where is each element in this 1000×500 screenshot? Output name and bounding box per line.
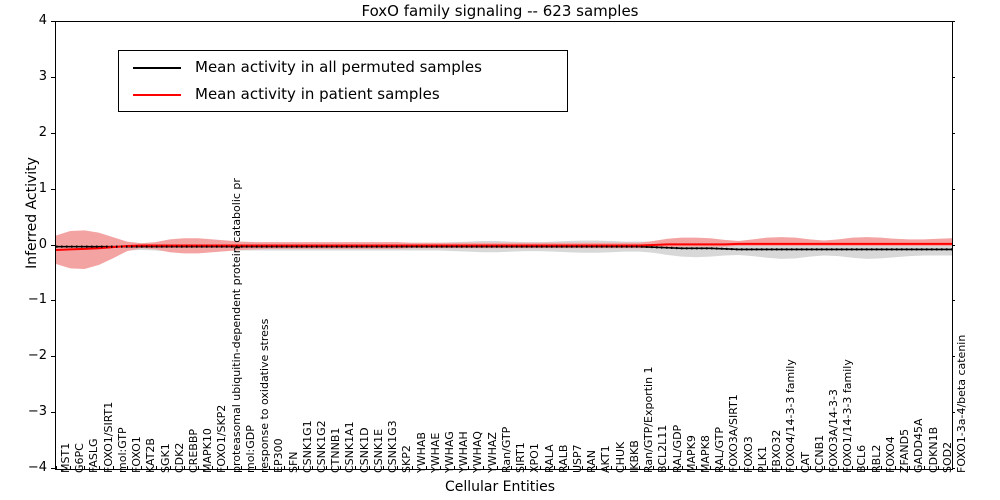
x-tick-mark — [881, 466, 882, 470]
x-tick-mark — [170, 466, 171, 470]
x-tick-mark — [326, 466, 327, 470]
plot-area: Mean activity in all permuted samplesMea… — [55, 21, 953, 470]
x-tick-mark — [867, 466, 868, 470]
x-tick-mark — [568, 466, 569, 470]
x-tick-mark — [440, 466, 441, 470]
x-tick-mark — [497, 466, 498, 470]
legend-item: Mean activity in patient samples — [119, 82, 567, 108]
x-tick-mark — [298, 466, 299, 470]
x-tick-mark — [355, 466, 356, 470]
x-tick-label: FOXO1-3a-4/beta catenin — [956, 335, 967, 473]
x-tick-mark — [540, 466, 541, 470]
y-tick-label: −1 — [9, 292, 47, 307]
chart-title: FoxO family signaling -- 623 samples — [0, 2, 1000, 20]
x-tick-label: FOXO1/SIRT1 — [103, 402, 114, 473]
chart-root: FoxO family signaling -- 623 samples Inf… — [0, 0, 1000, 500]
y-tick-label: 1 — [9, 181, 47, 196]
x-tick-mark — [198, 466, 199, 470]
legend-label: Mean activity in patient samples — [195, 85, 440, 103]
x-tick-label: FOXO3A/SIRT1 — [728, 394, 739, 473]
x-tick-label: GADD45A — [913, 418, 924, 473]
x-tick-mark — [70, 466, 71, 470]
y-tick-label: −4 — [9, 460, 47, 475]
x-tick-mark — [511, 466, 512, 470]
x-tick-mark — [611, 466, 612, 470]
x-tick-mark — [284, 466, 285, 470]
x-tick-mark — [255, 466, 256, 470]
x-tick-label: proteasomal ubiquitin-dependent protein … — [231, 178, 242, 473]
x-tick-mark — [952, 466, 953, 470]
x-tick-mark — [852, 466, 853, 470]
x-tick-mark — [383, 466, 384, 470]
legend: Mean activity in all permuted samplesMea… — [118, 50, 568, 112]
x-tick-mark — [596, 466, 597, 470]
x-tick-mark — [753, 466, 754, 470]
x-tick-mark — [682, 466, 683, 470]
x-tick-mark — [582, 466, 583, 470]
x-tick-mark — [397, 466, 398, 470]
x-tick-label: FOXO3A/14-3-3 — [828, 389, 839, 473]
x-tick-mark — [141, 466, 142, 470]
x-tick-mark — [909, 466, 910, 470]
x-tick-mark — [113, 466, 114, 470]
x-tick-label: FOXO1/14-3-3 family — [842, 359, 853, 473]
x-tick-mark — [554, 466, 555, 470]
x-tick-mark — [184, 466, 185, 470]
x-tick-mark — [454, 466, 455, 470]
legend-line-swatch — [133, 67, 181, 69]
x-tick-mark — [56, 466, 57, 470]
y-tick-label: 0 — [9, 237, 47, 252]
x-tick-mark — [895, 466, 896, 470]
x-tick-mark — [810, 466, 811, 470]
x-tick-mark — [724, 466, 725, 470]
x-tick-mark — [924, 466, 925, 470]
x-tick-mark — [668, 466, 669, 470]
x-tick-mark — [212, 466, 213, 470]
legend-item: Mean activity in all permuted samples — [119, 55, 567, 81]
x-tick-mark — [824, 466, 825, 470]
x-tick-mark — [369, 466, 370, 470]
x-tick-mark — [625, 466, 626, 470]
y-tick-label: −2 — [9, 348, 47, 363]
x-tick-mark — [639, 466, 640, 470]
x-tick-mark — [426, 466, 427, 470]
x-tick-mark — [938, 466, 939, 470]
x-tick-mark — [241, 466, 242, 470]
legend-label: Mean activity in all permuted samples — [195, 58, 482, 76]
x-tick-mark — [483, 466, 484, 470]
x-tick-mark — [739, 466, 740, 470]
x-tick-mark — [312, 466, 313, 470]
x-tick-mark — [340, 466, 341, 470]
y-tick-label: 2 — [9, 125, 47, 140]
x-tick-mark — [767, 466, 768, 470]
x-tick-mark — [796, 466, 797, 470]
x-tick-label: FOXO1/SKP2 — [216, 405, 227, 473]
x-tick-mark — [127, 466, 128, 470]
legend-line-swatch — [133, 94, 181, 96]
y-tick-label: −3 — [9, 404, 47, 419]
x-tick-mark — [99, 466, 100, 470]
x-tick-mark — [269, 466, 270, 470]
x-tick-mark — [525, 466, 526, 470]
x-tick-mark — [468, 466, 469, 470]
x-axis-label: Cellular Entities — [0, 479, 1000, 495]
x-tick-mark — [84, 466, 85, 470]
x-tick-mark — [710, 466, 711, 470]
x-tick-mark — [412, 466, 413, 470]
x-tick-mark — [227, 466, 228, 470]
y-tick-label: 3 — [9, 69, 47, 84]
x-tick-mark — [781, 466, 782, 470]
x-tick-label: response to oxidative stress — [259, 319, 270, 473]
x-tick-mark — [696, 466, 697, 470]
x-tick-label: FOXO4/14-3-3 family — [785, 359, 796, 473]
x-tick-mark — [156, 466, 157, 470]
x-tick-mark — [653, 466, 654, 470]
x-tick-label: Ran/GTP/Exportin 1 — [643, 366, 654, 473]
y-tick-label: 4 — [9, 13, 47, 28]
x-tick-mark — [838, 466, 839, 470]
